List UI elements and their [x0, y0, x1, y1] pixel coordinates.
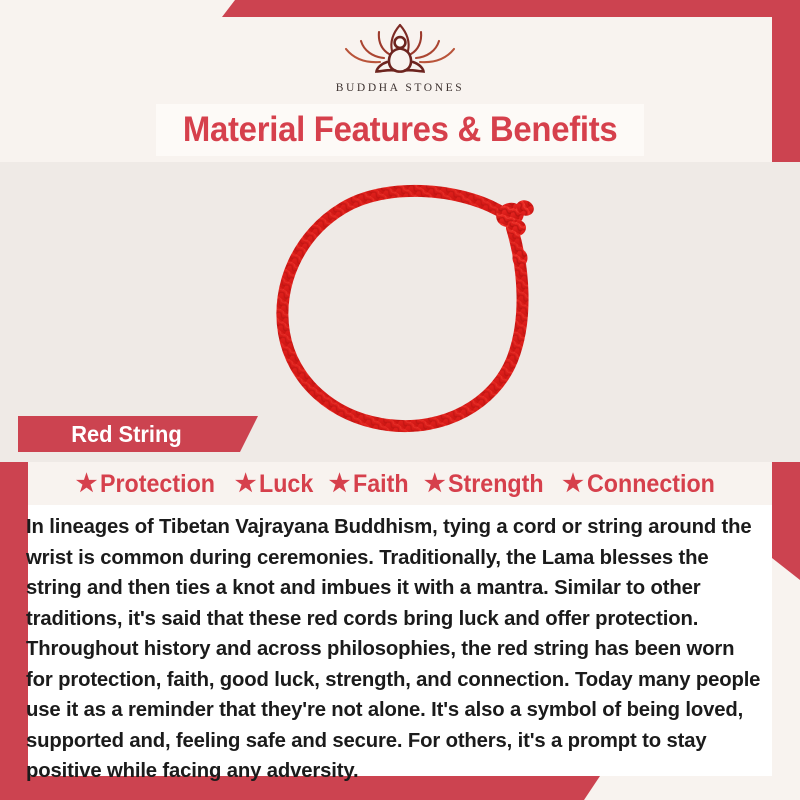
benefit-label: Protection — [100, 470, 215, 499]
brand-name: BUDDHA STONES — [0, 82, 800, 94]
benefits-row: ★ Protection ★ Luck ★ Faith ★ Strength ★… — [28, 466, 772, 502]
infographic-page: BUDDHA STONES Material Features & Benefi… — [0, 0, 800, 800]
star-icon: ★ — [562, 472, 584, 496]
body-paragraph: In lineages of Tibetan Vajrayana Buddhis… — [26, 512, 763, 787]
decorative-bar-top-right — [222, 0, 800, 17]
benefit-item-4: ★ Connection — [562, 470, 724, 499]
page-title: Material Features & Benefits — [183, 110, 618, 150]
benefit-item-0: ★ Protection — [76, 470, 224, 499]
star-icon: ★ — [424, 472, 446, 496]
lotus-meditation-icon — [330, 18, 470, 80]
benefit-label: Connection — [587, 470, 715, 499]
product-label: Red String — [18, 421, 182, 448]
benefit-label: Luck — [259, 470, 313, 499]
title-card: Material Features & Benefits — [156, 104, 644, 156]
brand-logo: BUDDHA STONES — [0, 18, 800, 94]
benefit-label: Faith — [353, 470, 409, 499]
red-string-bracelet-image — [236, 168, 586, 443]
benefit-label: Strength — [448, 470, 544, 499]
star-icon: ★ — [329, 472, 351, 496]
benefit-item-2: ★ Faith — [329, 470, 413, 499]
benefit-item-3: ★ Strength — [424, 470, 551, 499]
star-icon: ★ — [76, 472, 98, 496]
star-icon: ★ — [235, 472, 257, 496]
benefit-item-1: ★ Luck — [235, 470, 318, 499]
bracelet-knot — [493, 198, 536, 267]
product-label-banner: Red String — [18, 416, 258, 452]
